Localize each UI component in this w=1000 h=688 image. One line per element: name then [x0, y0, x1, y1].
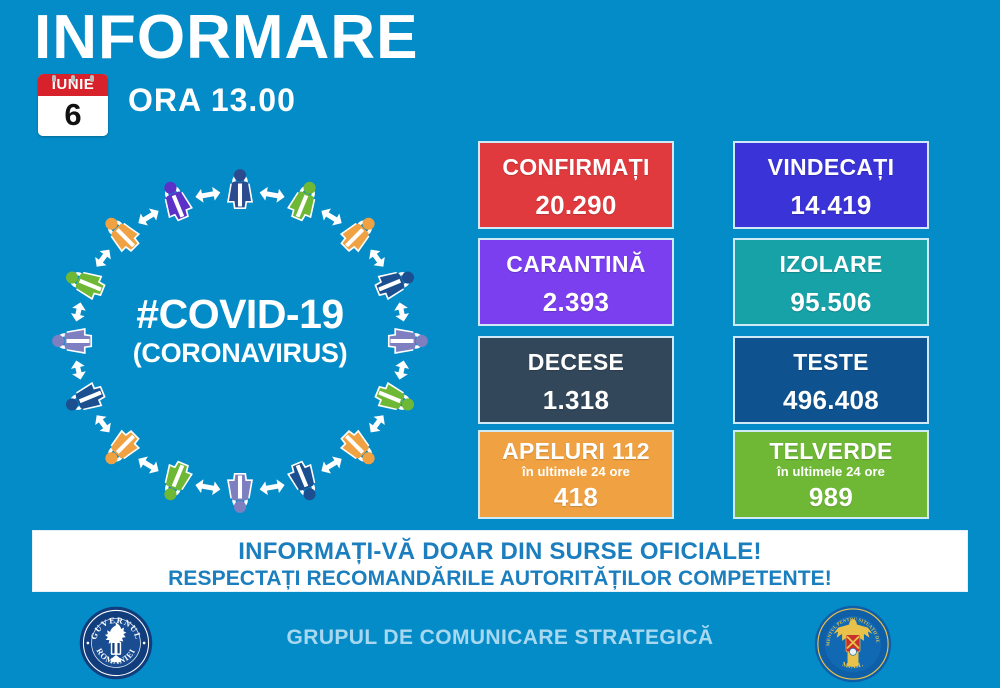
- stat-label: IZOLARE: [735, 251, 927, 278]
- stat-box-vindecati: VINDECAȚI14.419: [733, 141, 929, 229]
- person-icon: [390, 330, 428, 352]
- double-arrow-icon: [135, 205, 163, 229]
- double-arrow-icon: [365, 245, 389, 270]
- stat-label: TELVERDE: [735, 438, 927, 465]
- double-arrow-icon: [194, 186, 221, 204]
- person-icon: [99, 212, 142, 255]
- double-arrow-icon: [393, 359, 411, 381]
- stat-label: DECESE: [480, 349, 672, 376]
- calendar-rings: [38, 74, 108, 78]
- person-icon: [338, 212, 381, 255]
- circle-people-svg: [28, 163, 452, 518]
- person-icon: [229, 475, 251, 513]
- stat-value: 14.419: [735, 190, 927, 221]
- double-arrow-icon: [91, 245, 115, 270]
- people-layer: [52, 169, 428, 513]
- calendar-icon: IUNIE 6: [38, 74, 108, 136]
- stat-label: VINDECAȚI: [735, 154, 927, 181]
- double-arrow-icon: [318, 205, 346, 229]
- person-icon: [287, 178, 322, 222]
- stat-value: 2.393: [480, 287, 672, 318]
- banner-line-1: INFORMAȚI-VĂ DOAR DIN SURSE OFICIALE!: [33, 538, 967, 566]
- person-icon: [62, 265, 106, 300]
- person-icon: [338, 428, 381, 471]
- report-time: ORA 13.00: [128, 82, 296, 119]
- double-arrow-icon: [365, 411, 389, 436]
- person-icon: [158, 178, 193, 222]
- calendar-day: 6: [38, 96, 108, 136]
- double-arrow-icon: [135, 453, 163, 477]
- stat-label: CONFIRMAȚI: [480, 154, 672, 181]
- person-icon: [158, 460, 193, 504]
- departamentul-pentru-situatii-de-urgenta-seal: DEPARTAMENTUL PENTRU SITUAȚII DE URGENȚĂ…: [814, 604, 892, 684]
- double-arrow-icon: [258, 186, 285, 204]
- double-arrow-icon: [69, 301, 87, 323]
- double-arrow-icon: [318, 453, 346, 477]
- infographic-canvas: INFORMARE IUNIE 6 ORA 13.00 #COVID-19 (C…: [0, 0, 1000, 688]
- person-icon: [229, 169, 251, 207]
- person-icon: [374, 265, 418, 300]
- stat-value: 95.506: [735, 287, 927, 318]
- stat-box-apeluri-112: APELURI 112în ultimele 24 ore418: [478, 430, 674, 519]
- stat-sublabel: în ultimele 24 ore: [735, 464, 927, 479]
- double-arrow-icon: [393, 301, 411, 323]
- stat-label: APELURI 112: [480, 438, 672, 465]
- stat-value: 989: [735, 482, 927, 513]
- stat-label: TESTE: [735, 349, 927, 376]
- stat-label: CARANTINĂ: [480, 251, 672, 278]
- banner-line-2: RESPECTAȚI RECOMANDĂRILE AUTORITĂȚILOR C…: [33, 566, 967, 591]
- double-arrow-icon: [91, 411, 115, 436]
- person-icon: [52, 330, 90, 352]
- official-sources-banner: INFORMAȚI-VĂ DOAR DIN SURSE OFICIALE! RE…: [32, 530, 968, 592]
- double-arrow-icon: [194, 478, 221, 496]
- person-icon: [99, 428, 142, 471]
- stat-value: 496.408: [735, 385, 927, 416]
- stat-value: 20.290: [480, 190, 672, 221]
- guvernul-romaniei-seal: GUVERNUL ROMÂNIEI: [79, 606, 153, 680]
- double-arrow-icon: [69, 359, 87, 381]
- person-icon: [374, 382, 418, 417]
- covid-circle-graphic: #COVID-19 (CORONAVIRUS): [28, 163, 452, 518]
- stat-box-confirmati: CONFIRMAȚI20.290: [478, 141, 674, 229]
- stat-value: 418: [480, 482, 672, 513]
- stat-box-teste: TESTE496.408: [733, 336, 929, 424]
- stat-sublabel: în ultimele 24 ore: [480, 464, 672, 479]
- stat-box-decese: DECESE1.318: [478, 336, 674, 424]
- stat-value: 1.318: [480, 385, 672, 416]
- page-title: INFORMARE: [34, 2, 418, 73]
- stat-box-carantina: CARANTINĂ2.393: [478, 238, 674, 326]
- stat-box-izolare: IZOLARE95.506: [733, 238, 929, 326]
- stat-box-telverde: TELVERDEîn ultimele 24 ore989: [733, 430, 929, 519]
- double-arrow-icon: [258, 478, 285, 496]
- person-icon: [287, 460, 322, 504]
- person-icon: [62, 382, 106, 417]
